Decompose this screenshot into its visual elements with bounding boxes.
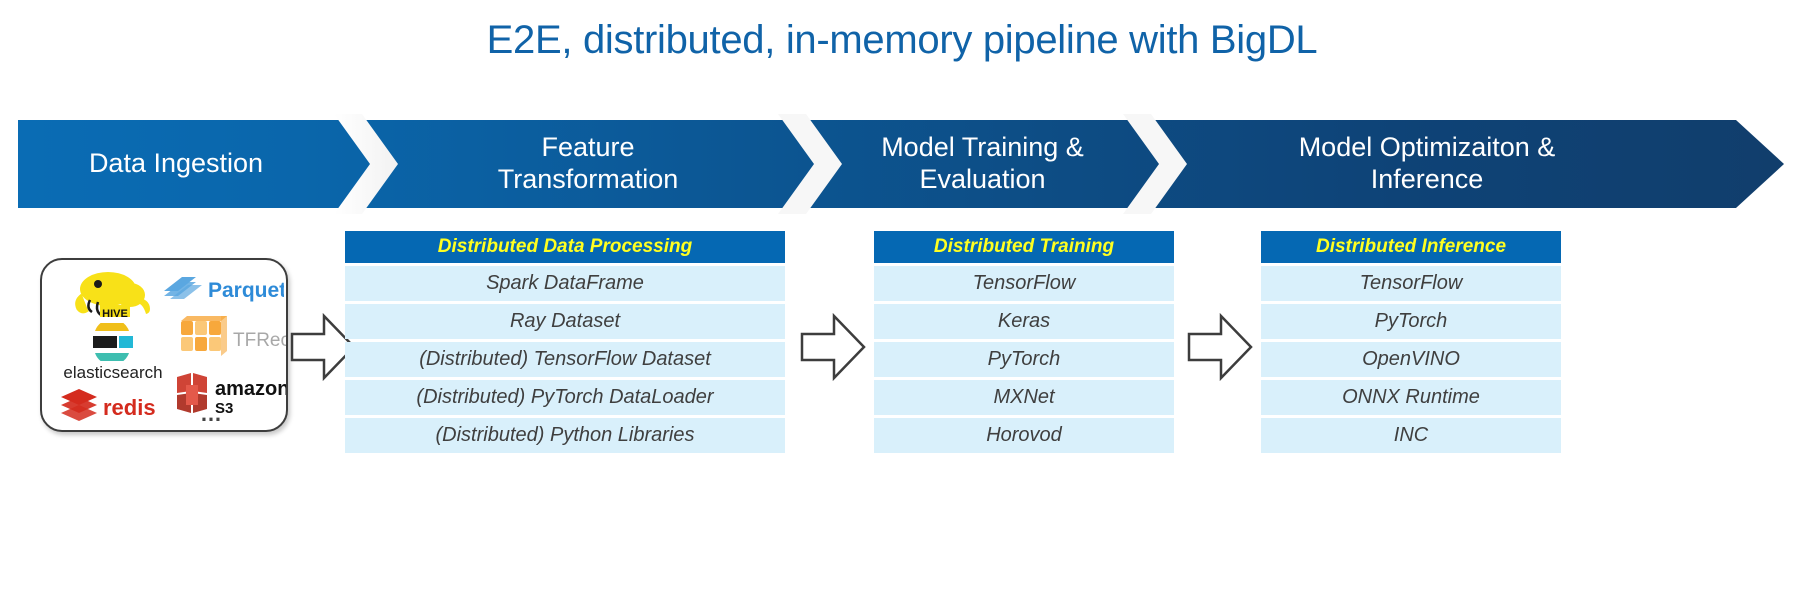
panel-row[interactable]: MXNet xyxy=(874,380,1174,415)
stage-label-text: Feature Transformation xyxy=(498,132,679,196)
panel-row[interactable]: Horovod xyxy=(874,418,1174,453)
panel-header-inference: Distributed Inference xyxy=(1261,231,1561,263)
pipeline-banner: Data Ingestion Feature Transformation Mo… xyxy=(18,120,1784,208)
stage-label-text: Model Optimizaiton & Inference xyxy=(1299,132,1556,196)
panel-header-data-processing: Distributed Data Processing xyxy=(345,231,785,263)
parquet-logo: Parquet xyxy=(160,270,284,306)
panel-row[interactable]: Spark DataFrame xyxy=(345,266,785,301)
stage-data-ingestion[interactable]: Data Ingestion xyxy=(18,120,334,208)
panel-row[interactable]: ONNX Runtime xyxy=(1261,380,1561,415)
stage-label-text: Model Training & Evaluation xyxy=(881,132,1084,196)
elasticsearch-logo: elasticsearch xyxy=(52,322,174,384)
svg-text:TFRecord: TFRecord xyxy=(233,330,288,351)
panel-row[interactable]: TensorFlow xyxy=(1261,266,1561,301)
panel-distributed-training: Distributed Training TensorFlow Keras Py… xyxy=(874,231,1174,453)
panel-row[interactable]: (Distributed) TensorFlow Dataset xyxy=(345,342,785,377)
tfrecord-logo: TFRecord xyxy=(172,312,288,366)
elasticsearch-label: elasticsearch xyxy=(63,363,162,383)
panel-row[interactable]: INC xyxy=(1261,418,1561,453)
stage-model-optimization-inference[interactable]: Model Optimizaiton & Inference xyxy=(1187,120,1667,208)
page-title: E2E, distributed, in-memory pipeline wit… xyxy=(0,18,1804,63)
panel-row[interactable]: Keras xyxy=(874,304,1174,339)
panel-distributed-inference: Distributed Inference TensorFlow PyTorch… xyxy=(1261,231,1561,453)
panel-row[interactable]: OpenVINO xyxy=(1261,342,1561,377)
stage-feature-transformation[interactable]: Feature Transformation xyxy=(398,120,778,208)
data-sources-box: HIVE Parquet elasticsearch xyxy=(40,258,288,432)
panel-distributed-data-processing: Distributed Data Processing Spark DataFr… xyxy=(345,231,785,453)
panel-row[interactable]: PyTorch xyxy=(874,342,1174,377)
panel-row[interactable]: (Distributed) Python Libraries xyxy=(345,418,785,453)
panel-row[interactable]: Ray Dataset xyxy=(345,304,785,339)
stage-model-training-evaluation[interactable]: Model Training & Evaluation xyxy=(842,120,1123,208)
svg-text:amazon: amazon xyxy=(215,378,288,400)
ellipsis-more-sources: … xyxy=(192,404,232,424)
panel-row[interactable]: TensorFlow xyxy=(874,266,1174,301)
panel-row[interactable]: PyTorch xyxy=(1261,304,1561,339)
svg-text:HIVE: HIVE xyxy=(102,308,128,320)
svg-text:Parquet: Parquet xyxy=(208,279,284,302)
panel-header-training: Distributed Training xyxy=(874,231,1174,263)
panel-row[interactable]: (Distributed) PyTorch DataLoader xyxy=(345,380,785,415)
stage-label-text: Data Ingestion xyxy=(89,148,263,180)
svg-text:redis: redis xyxy=(103,395,156,420)
flow-arrow-training-to-inference xyxy=(1187,312,1253,382)
hive-logo: HIVE xyxy=(66,266,156,322)
redis-logo: redis xyxy=(56,382,174,424)
flow-arrow-processing-to-training xyxy=(800,312,866,382)
